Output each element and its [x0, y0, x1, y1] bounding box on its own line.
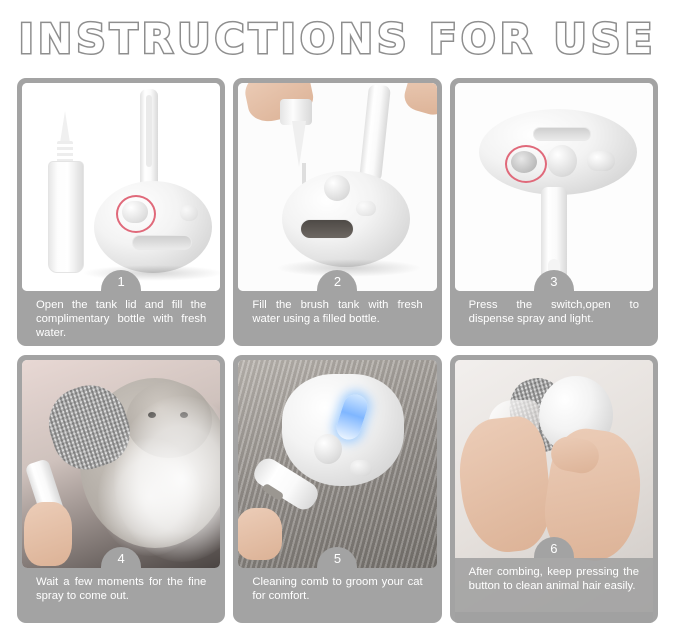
step-caption: After combing, keep pressing the button … — [455, 558, 653, 623]
step-caption: Fill the brush tank with fresh water usi… — [238, 291, 436, 346]
secondary-button — [180, 205, 198, 221]
highlight-ring-icon — [116, 195, 156, 233]
light-button — [587, 151, 615, 171]
step-caption: Cleaning comb to groom your cat for comf… — [238, 568, 436, 623]
device-handle — [359, 84, 391, 182]
step-1-photo: 1 — [22, 83, 220, 291]
hand-holding-device — [401, 83, 436, 118]
device-handle-slot — [146, 95, 152, 167]
instruction-card-4: 4 Wait a few moments for the fine spray … — [17, 355, 225, 623]
bottle-body-icon — [48, 161, 84, 273]
step-caption: Wait a few moments for the fine spray to… — [22, 568, 220, 623]
highlight-ring-icon — [505, 145, 547, 183]
water-tank-window — [132, 235, 192, 250]
bottle-nozzle — [292, 121, 306, 167]
instruction-card-3: 3 Press the switch,open to dispense spra… — [450, 78, 658, 346]
instruction-card-1: 1 Open the tank lid and fill the complim… — [17, 78, 225, 346]
water-mist-secondary — [98, 438, 202, 556]
step-2-illustration — [238, 83, 436, 291]
step-2-photo: 2 — [238, 83, 436, 291]
step-1-illustration — [22, 83, 220, 291]
page-title: INSTRUCTIONS FOR USE — [19, 19, 657, 60]
step-4-photo: 4 — [22, 360, 220, 568]
device-shadow — [82, 265, 220, 281]
instruction-card-2: 2 Fill the brush tank with fresh water u… — [233, 78, 441, 346]
water-tank-window — [533, 127, 591, 141]
hand-holding-device — [238, 508, 282, 560]
hand-holding-device — [24, 502, 72, 566]
instruction-steps-grid: 1 Open the tank lid and fill the complim… — [17, 78, 658, 623]
step-3-photo: 3 — [455, 83, 653, 291]
power-button — [350, 460, 372, 476]
instruction-card-5: 5 Cleaning comb to groom your cat for co… — [233, 355, 441, 623]
bottle-tip-icon — [60, 111, 70, 143]
power-button — [356, 201, 376, 216]
bottle-neck-icon — [57, 141, 73, 163]
step-5-illustration — [238, 360, 436, 568]
spray-nozzle — [547, 145, 577, 177]
step-3-illustration — [455, 83, 653, 291]
water-tank-window — [300, 219, 354, 239]
step-4-illustration — [22, 360, 220, 568]
page-header: INSTRUCTIONS FOR USE — [0, 0, 675, 78]
step-5-photo: 5 — [238, 360, 436, 568]
device-body — [94, 181, 212, 273]
step-caption: Press the switch,open to dispense spray … — [455, 291, 653, 346]
step-caption: Open the tank lid and fill the complimen… — [22, 291, 220, 346]
instruction-card-6: 6 After combing, keep pressing the butto… — [450, 355, 658, 623]
